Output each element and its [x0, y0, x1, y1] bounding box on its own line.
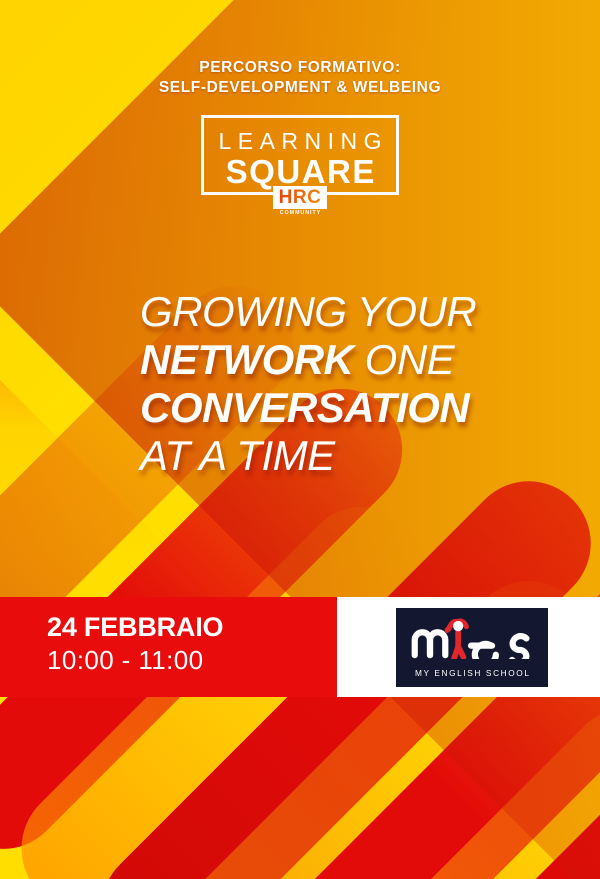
headline-emphasis-network: NETWORK	[140, 336, 353, 383]
headline-line-1: GROWING YOUR	[140, 288, 560, 336]
myes-logo: MY ENGLISH SCHOOL	[396, 608, 548, 687]
kicker-line-1: PERCORSO FORMATIVO:	[199, 59, 400, 76]
logo-word-learning: LEARNING	[204, 128, 396, 154]
myes-tagline: MY ENGLISH SCHOOL	[396, 668, 548, 678]
kicker-text: PERCORSO FORMATIVO: SELF-DEVELOPMENT & W…	[0, 58, 600, 98]
event-time: 10:00 - 11:00	[47, 645, 204, 675]
learning-square-logo: LEARNING SQUARE	[201, 115, 399, 195]
headline-line-4: AT A TIME	[140, 432, 560, 480]
hrc-badge: HRC	[273, 186, 327, 209]
headline-word-one: ONE	[365, 336, 455, 383]
kicker-line-2: SELF-DEVELOPMENT & WELBEING	[0, 78, 600, 98]
hrc-badge-label: HRC	[279, 188, 322, 207]
myes-wordmark-icon	[396, 617, 548, 659]
hrc-badge-sublabel: COMMUNITY	[273, 209, 327, 217]
sponsor-logo-panel: MY ENGLISH SCHOOL	[337, 597, 600, 697]
headline-line-3: CONVERSATION	[140, 384, 560, 432]
logo-word-square: SQUARE	[204, 154, 396, 190]
headline-line-2: NETWORK ONE	[140, 336, 560, 384]
event-info-band: 24 FEBBRAIO 10:00 - 11:00	[0, 597, 337, 697]
headline-block: GROWING YOUR NETWORK ONE CONVERSATION AT…	[140, 288, 560, 480]
event-date: 24 FEBBRAIO	[47, 611, 223, 643]
poster-canvas: PERCORSO FORMATIVO: SELF-DEVELOPMENT & W…	[0, 0, 600, 879]
